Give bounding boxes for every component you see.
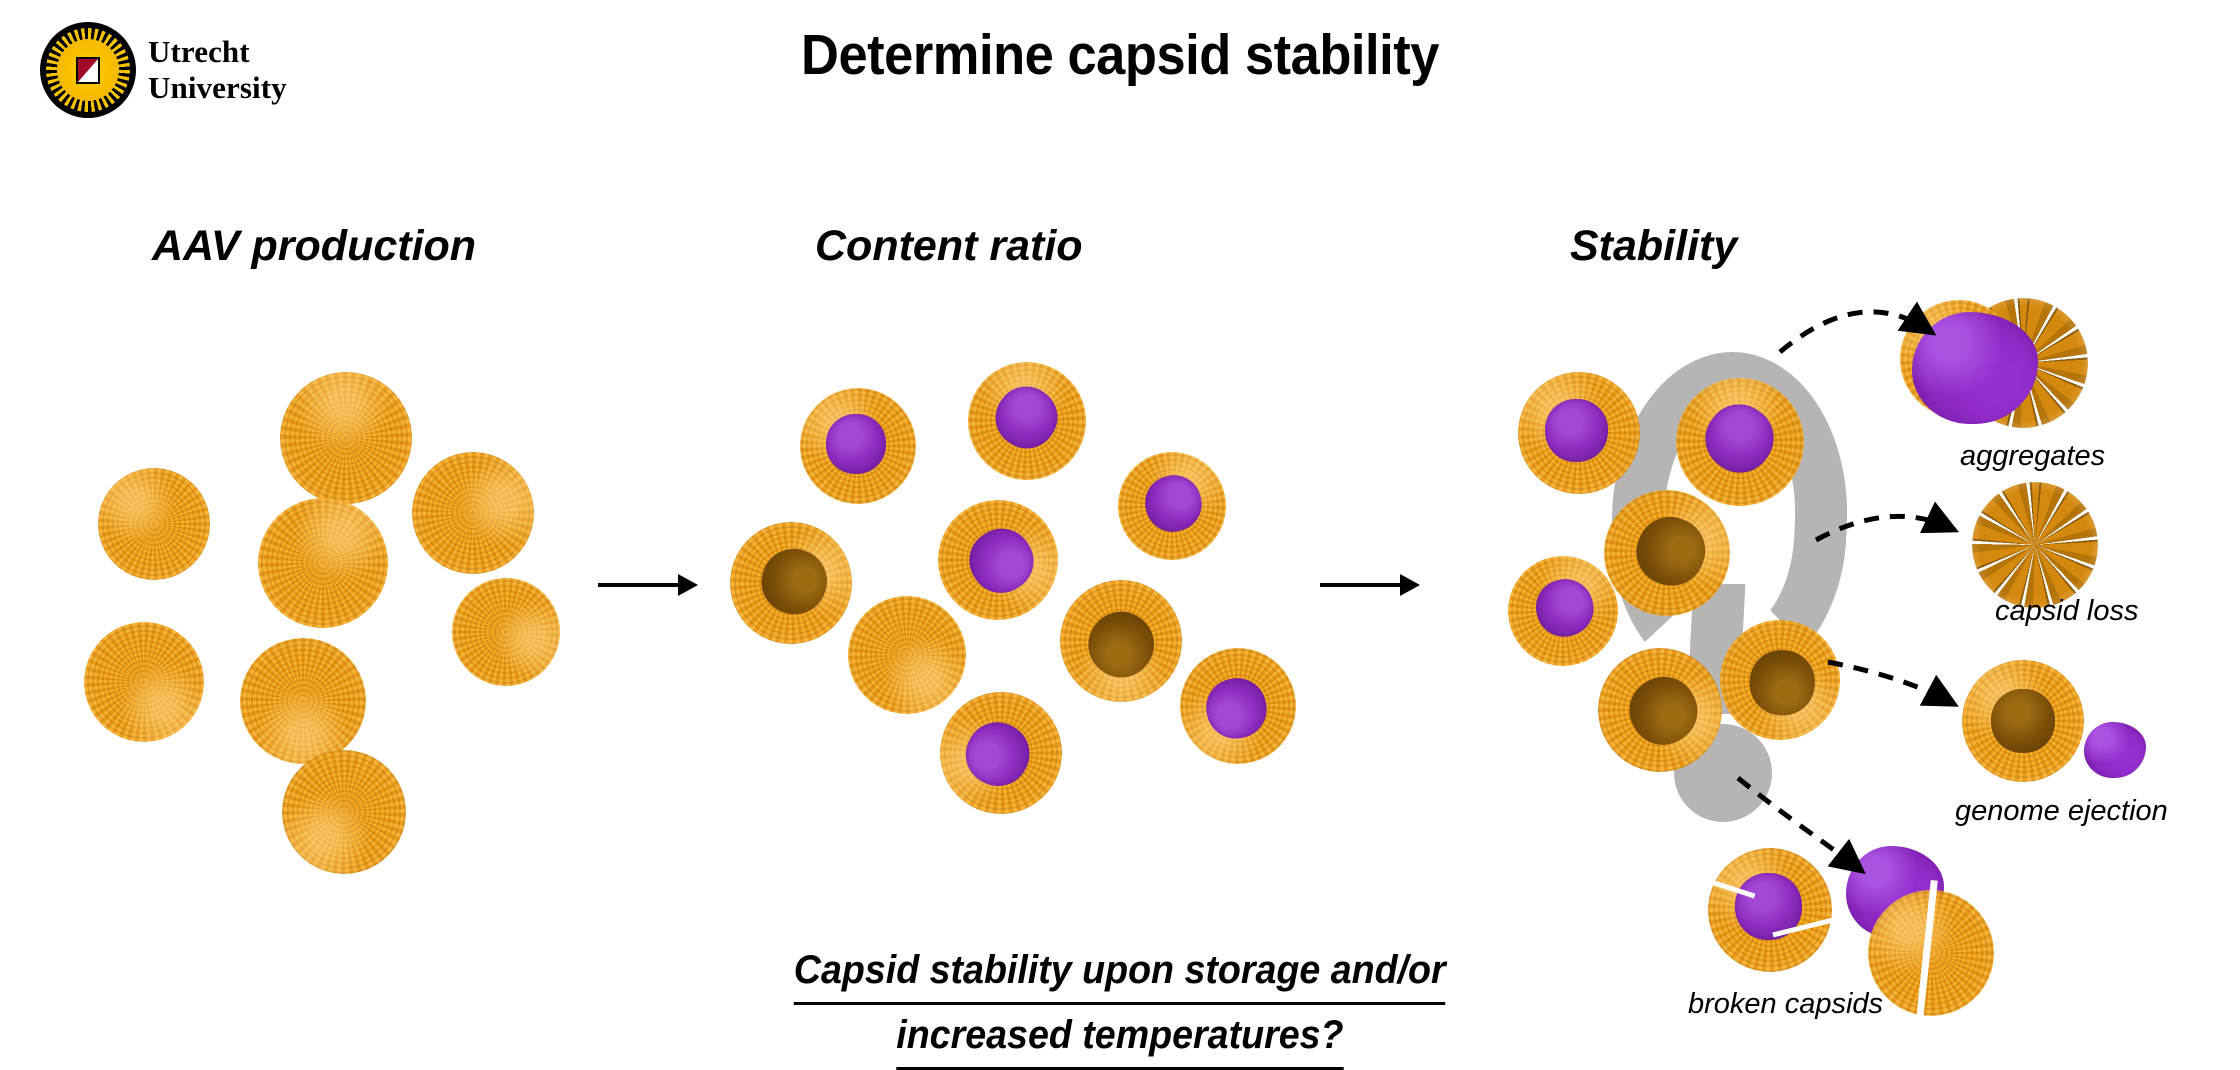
- capsid-grain: [394, 434, 552, 592]
- capsid-particle: [944, 338, 1109, 503]
- capsid-core: [1545, 399, 1608, 462]
- arrow-head: [678, 574, 698, 596]
- capsid-particle: [394, 434, 552, 592]
- capsid-particle: [800, 388, 916, 504]
- capsid-particle: [98, 468, 210, 580]
- capsid-particle: [1518, 372, 1640, 494]
- outcome-label-genome-ejection: genome ejection: [1955, 795, 2168, 828]
- capsid-grain: [79, 617, 209, 747]
- slide-caption: Capsid stability upon storage and/or inc…: [0, 940, 2240, 1070]
- outcome-label-capsid-loss: capsid loss: [1995, 595, 2138, 628]
- capsid-core: [826, 414, 886, 474]
- stage-header-content-ratio: Content ratio: [815, 222, 1083, 271]
- capsid-particle: [1170, 638, 1306, 774]
- flow-arrow-content-ratio-to-stability: [1320, 573, 1420, 597]
- capsid-particle: [79, 617, 209, 747]
- capsid-core: [1991, 689, 2054, 752]
- capsid-grain: [432, 558, 581, 707]
- outcome-label-aggregates: aggregates: [1960, 440, 2105, 473]
- capsid-loss-fragments: [1972, 482, 2098, 608]
- capsid-grain: [843, 591, 971, 719]
- arrow-head: [1400, 574, 1420, 596]
- capsid-particle: [243, 483, 404, 644]
- capsid-particle: [1105, 439, 1239, 573]
- capsid-grain: [98, 468, 210, 580]
- caption-line2: increased temperatures?: [896, 1005, 1343, 1070]
- caption-line1: Capsid stability upon storage and/or: [794, 940, 1446, 1005]
- slide-title: Determine capsid stability: [90, 22, 2151, 88]
- capsid-particle: [432, 558, 581, 707]
- stage-header-production: AAV production: [152, 222, 476, 271]
- arrow-shaft: [598, 583, 680, 587]
- genome-ejection-empty-capsid: [1962, 660, 2084, 782]
- capsid-particle: [843, 591, 971, 719]
- flow-arrow-production-to-content-ratio: [598, 573, 698, 597]
- ejected-genome: [2084, 722, 2146, 778]
- stage-header-stability: Stability: [1570, 222, 1737, 271]
- capsid-particle: [712, 504, 870, 662]
- arrow-shaft: [1320, 583, 1402, 587]
- capsid-grain: [243, 483, 404, 644]
